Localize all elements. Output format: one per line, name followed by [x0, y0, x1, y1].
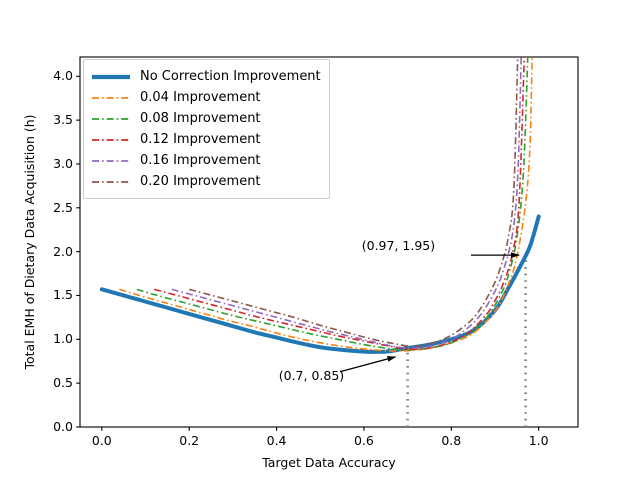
legend-swatch [91, 154, 131, 168]
x-tick-label: 0.2 [177, 433, 201, 448]
legend-item[interactable]: No Correction Improvement [91, 66, 321, 87]
legend-swatch [91, 91, 131, 105]
x-tick-marks [102, 427, 539, 431]
y-tick-label: 4.0 [40, 68, 73, 83]
legend-label: 0.16 Improvement [140, 153, 261, 168]
y-tick-label: 2.0 [40, 244, 73, 259]
y-tick-label: 3.0 [40, 156, 73, 171]
legend-label: 0.20 Improvement [140, 174, 261, 189]
legend-label: No Correction Improvement [140, 69, 321, 84]
chart-legend[interactable]: No Correction Improvement0.04 Improvemen… [83, 59, 330, 199]
y-tick-label: 0.5 [40, 375, 73, 390]
y-tick-marks [76, 76, 80, 427]
annotation-high-point: (0.97, 1.95) [362, 238, 435, 253]
y-tick-label: 3.5 [40, 112, 73, 127]
legend-swatch [91, 175, 131, 189]
y-tick-label: 2.5 [40, 200, 73, 215]
figure-canvas: Total EMH of Dietary Data Acquisition (h… [0, 0, 640, 480]
y-tick-label: 0.0 [40, 419, 73, 434]
x-tick-label: 0.6 [352, 433, 376, 448]
y-axis-label: Total EMH of Dietary Data Acquisition (h… [22, 114, 37, 369]
annotation-low-point: (0.7, 0.85) [279, 368, 344, 383]
y-tick-label: 1.0 [40, 331, 73, 346]
x-tick-label: 1.0 [527, 433, 551, 448]
legend-item[interactable]: 0.20 Improvement [91, 171, 321, 192]
legend-item[interactable]: 0.04 Improvement [91, 87, 321, 108]
legend-item[interactable]: 0.08 Improvement [91, 108, 321, 129]
legend-swatch [91, 133, 131, 147]
legend-label: 0.08 Improvement [140, 111, 261, 126]
y-tick-label: 1.5 [40, 287, 73, 302]
legend-label: 0.12 Improvement [140, 132, 261, 147]
legend-item[interactable]: 0.16 Improvement [91, 150, 321, 171]
x-tick-label: 0.0 [90, 433, 114, 448]
x-axis-label: Target Data Accuracy [262, 455, 396, 470]
legend-label: 0.04 Improvement [140, 90, 261, 105]
x-tick-label: 0.4 [265, 433, 289, 448]
legend-item[interactable]: 0.12 Improvement [91, 129, 321, 150]
x-tick-label: 0.8 [439, 433, 463, 448]
legend-swatch [91, 70, 131, 84]
legend-swatch [91, 112, 131, 126]
